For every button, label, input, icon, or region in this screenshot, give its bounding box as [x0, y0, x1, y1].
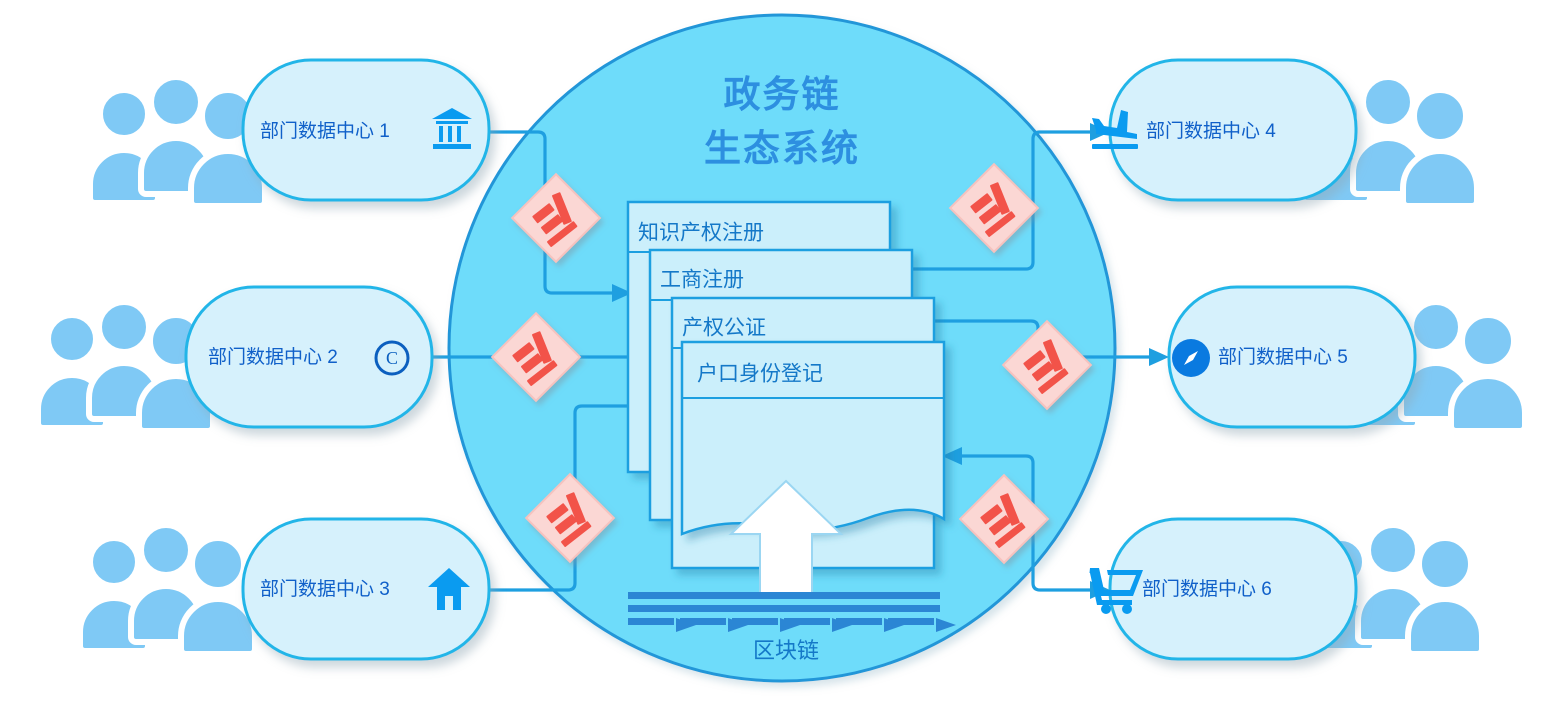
- sidebar-item-node-1[interactable]: 部门数据中心 1: [90, 60, 489, 206]
- document-card-1-label: 知识产权注册: [638, 222, 764, 245]
- center-title-line1: 政务链: [724, 74, 841, 115]
- document-card-4-label: 户口身份登记: [697, 363, 823, 386]
- node-5-label: 部门数据中心 5: [1218, 346, 1348, 368]
- sidebar-item-node-2[interactable]: 部门数据中心 2 C: [38, 287, 432, 431]
- document-card-3-label: 产权公证: [682, 317, 766, 340]
- people-icon-1: [90, 77, 265, 206]
- svg-text:C: C: [386, 348, 398, 368]
- node-3-label: 部门数据中心 3: [260, 578, 390, 600]
- diagram-canvas: 政务链 生态系统 知识产权注册 工商注册 产权公证 户口身份登记: [0, 0, 1554, 717]
- node-4-label: 部门数据中心 4: [1146, 120, 1276, 142]
- document-card-2-label: 工商注册: [660, 269, 744, 292]
- node-6-label: 部门数据中心 6: [1142, 578, 1272, 600]
- blockchain-label: 区块链: [753, 638, 819, 663]
- center-title-line2: 生态系统: [704, 128, 860, 169]
- node-2-label: 部门数据中心 2: [208, 346, 338, 368]
- node-1-label: 部门数据中心 1: [260, 120, 390, 142]
- sidebar-item-node-6[interactable]: 部门数据中心 6: [1090, 519, 1483, 659]
- people-icon-3: [80, 525, 255, 654]
- sidebar-item-node-5[interactable]: 部门数据中心 5: [1169, 287, 1525, 431]
- compass-icon: [1172, 339, 1210, 377]
- sidebar-item-node-4[interactable]: 部门数据中心 4: [1092, 60, 1477, 206]
- sidebar-item-node-3[interactable]: 部门数据中心 3: [80, 519, 489, 659]
